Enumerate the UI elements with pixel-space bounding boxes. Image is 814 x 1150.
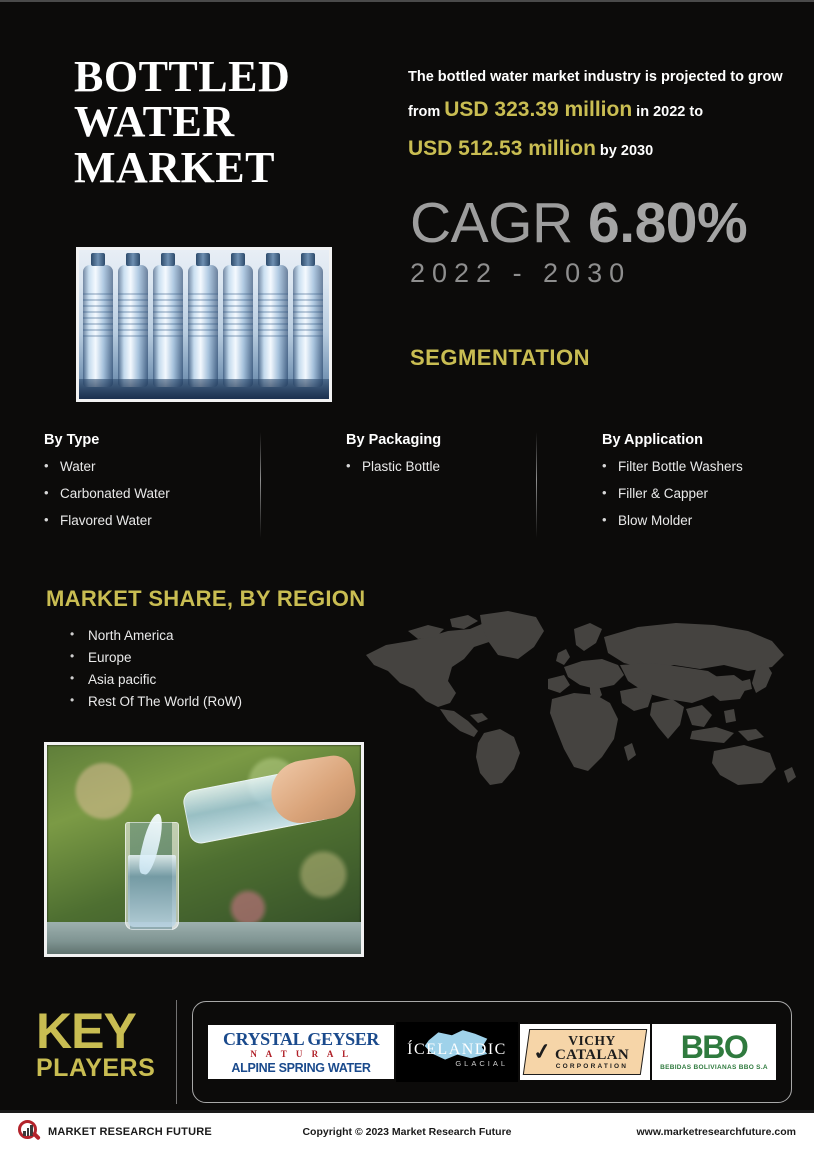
list-item: Blow Molder — [602, 513, 814, 529]
footer-bar: MARKET RESEARCH FUTURE Copyright © 2023 … — [0, 1110, 814, 1150]
segment-title: By Packaging — [346, 432, 526, 448]
footer-brand-text: MARKET RESEARCH FUTURE — [48, 1126, 212, 1138]
key-players-divider — [176, 1000, 177, 1104]
market-share-heading: MARKET SHARE, BY REGION — [46, 586, 365, 612]
logo-bbo: BBO BEBIDAS BOLIVIANAS BBO S.A — [652, 1024, 776, 1080]
headline-part-1: The bottled water market industry is pro… — [408, 69, 783, 85]
headline-part-2-prefix: from — [408, 104, 444, 120]
magnifier-chart-icon — [18, 1120, 41, 1143]
segment-divider-1 — [260, 432, 261, 538]
market-projection-headline: The bottled water market industry is pro… — [408, 64, 808, 169]
bottled-water-photo — [76, 247, 332, 402]
world-map-icon — [352, 607, 804, 785]
logo-text: BBO — [681, 1033, 748, 1062]
list-item: Filter Bottle Washers — [602, 459, 814, 475]
segmentation-heading: SEGMENTATION — [410, 345, 590, 371]
segment-item-list: Filter Bottle Washers Filler & Capper Bl… — [602, 459, 814, 530]
logo-text: ÍCELANDIC — [407, 1041, 507, 1059]
segment-column-by-packaging: By Packaging Plastic Bottle — [346, 432, 526, 486]
cagr-label: CAGR — [410, 191, 573, 255]
cagr-value: 6.80% — [588, 191, 747, 255]
key-players-line-2: PLAYERS — [36, 1054, 155, 1083]
page-title: BOTTLED WATER MARKET — [74, 54, 384, 190]
title-line-1: BOTTLED — [74, 54, 384, 99]
water-pouring-photo — [44, 742, 364, 957]
infographic-poster: BOTTLED WATER MARKET The bottled water m… — [0, 0, 814, 1150]
logo-text: N A T U R A L — [250, 1048, 351, 1062]
key-players-line-1: KEY — [36, 1008, 155, 1054]
segment-column-by-application: By Application Filter Bottle Washers Fil… — [602, 432, 814, 541]
pour-image — [47, 745, 361, 954]
logo-text: BEBIDAS BOLIVIANAS BBO S.A — [660, 1064, 768, 1071]
title-line-3: MARKET — [74, 145, 384, 190]
segment-divider-2 — [536, 432, 537, 538]
segment-item-list: Plastic Bottle — [346, 459, 526, 475]
headline-part-2-mid: in 2022 to — [632, 104, 703, 120]
logo-text: CATALAN — [555, 1047, 629, 1062]
headline-part-3-suffix: by 2030 — [596, 143, 653, 159]
key-players-label: KEY PLAYERS — [36, 1008, 155, 1083]
cagr-period: 2022 - 2030 — [410, 258, 747, 289]
logo-text: CRYSTAL GEYSER — [223, 1030, 379, 1048]
segment-column-by-type: By Type Water Carbonated Water Flavored … — [44, 432, 254, 541]
segment-item-list: Water Carbonated Water Flavored Water — [44, 459, 254, 530]
list-item: Filler & Capper — [602, 486, 814, 502]
cagr-line: CAGR 6.80% — [410, 190, 747, 256]
key-players-logo-box: CRYSTAL GEYSER N A T U R A L ALPINE SPRI… — [192, 1001, 792, 1103]
footer-brand: MARKET RESEARCH FUTURE — [18, 1120, 212, 1143]
list-item: Flavored Water — [44, 513, 254, 529]
footer-copyright: Copyright © 2023 Market Research Future — [302, 1126, 511, 1138]
segmentation-columns: By Type Water Carbonated Water Flavored … — [44, 432, 774, 547]
footer-url[interactable]: www.marketresearchfuture.com — [636, 1126, 796, 1138]
logo-text: ALPINE SPRING WATER — [231, 1062, 370, 1075]
logo-text: CORPORATION — [555, 1064, 629, 1071]
list-item: Carbonated Water — [44, 486, 254, 502]
logo-vichy-catalan: ✓ VICHY CATALAN CORPORATION — [520, 1024, 650, 1080]
value-2022: USD 323.39 million — [444, 98, 632, 121]
title-line-2: WATER — [74, 99, 384, 144]
region-list: North America Europe Asia pacific Rest O… — [70, 628, 242, 716]
list-item: Water — [44, 459, 254, 475]
logo-crystal-geyser: CRYSTAL GEYSER N A T U R A L ALPINE SPRI… — [208, 1025, 394, 1079]
list-item: Europe — [70, 650, 242, 665]
list-item: Rest Of The World (RoW) — [70, 694, 242, 709]
list-item: Plastic Bottle — [346, 459, 526, 475]
list-item: Asia pacific — [70, 672, 242, 687]
value-2030: USD 512.53 million — [408, 137, 596, 160]
checkmark-icon: ✓ — [531, 1038, 553, 1066]
cagr-block: CAGR 6.80% 2022 - 2030 — [410, 190, 747, 289]
segment-title: By Type — [44, 432, 254, 448]
list-item: North America — [70, 628, 242, 643]
logo-icelandic-glacial: ÍCELANDIC GLACIAL — [396, 1022, 518, 1082]
logo-text: GLACIAL — [455, 1059, 508, 1068]
logo-row: CRYSTAL GEYSER N A T U R A L ALPINE SPRI… — [193, 1002, 791, 1102]
logo-text: VICHY — [555, 1034, 629, 1048]
segment-title: By Application — [602, 432, 814, 448]
bottles-image — [79, 250, 329, 399]
